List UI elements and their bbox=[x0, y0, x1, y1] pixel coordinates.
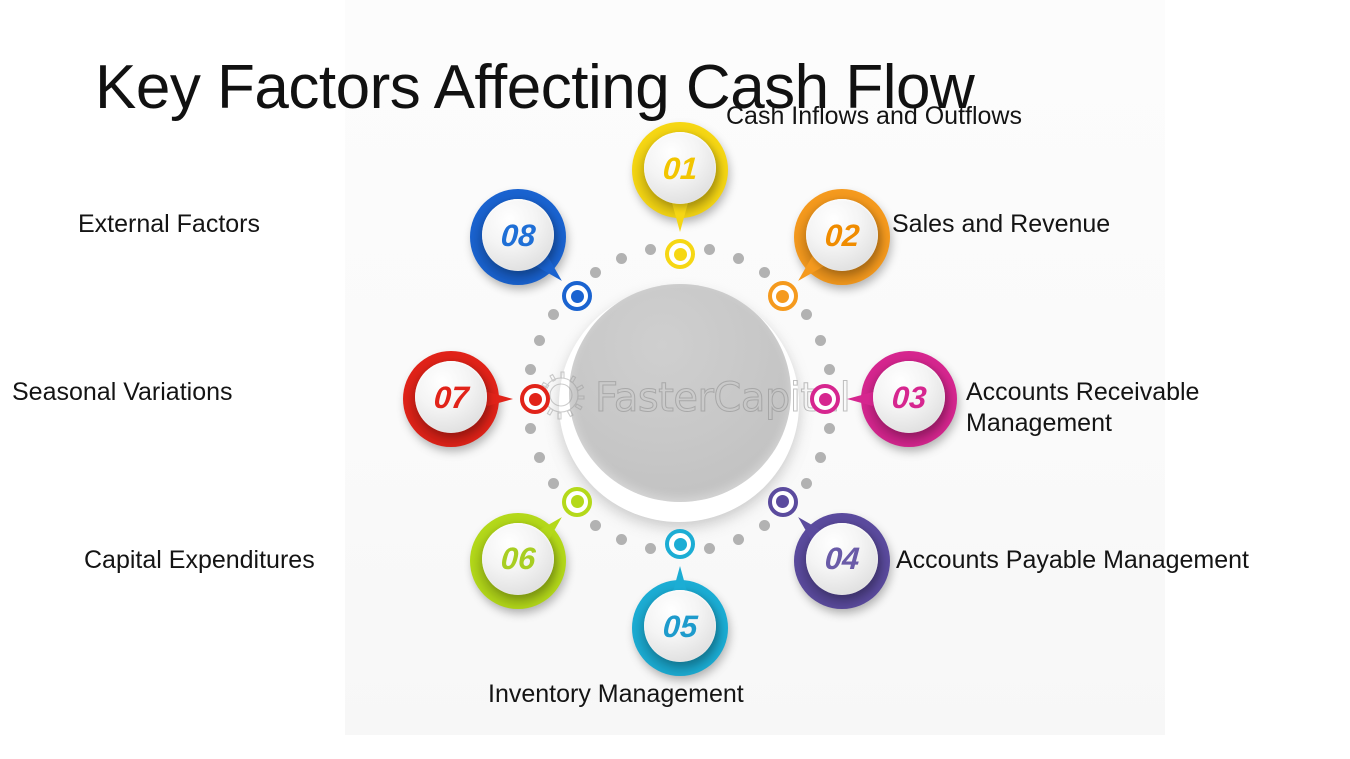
ring-dot bbox=[616, 253, 627, 264]
pin-number: 05 bbox=[662, 611, 699, 642]
step-label-03: Accounts Receivable Management bbox=[966, 377, 1296, 439]
ring-dot bbox=[616, 534, 627, 545]
ring-dot bbox=[759, 267, 770, 278]
step-label-01: Cash Inflows and Outflows bbox=[726, 101, 1146, 132]
target-dot-02[interactable] bbox=[768, 281, 798, 311]
pin-number: 06 bbox=[500, 543, 537, 574]
pin-face: 06 bbox=[482, 523, 554, 595]
target-dot-06[interactable] bbox=[562, 487, 592, 517]
step-pin-02[interactable]: 02 bbox=[794, 189, 890, 285]
ring-dot bbox=[733, 253, 744, 264]
infographic-canvas: Key Factors Affecting Cash Flow Faster bbox=[0, 0, 1350, 759]
ring-dot bbox=[645, 543, 656, 554]
hub-disc bbox=[569, 284, 791, 502]
target-dot-01[interactable] bbox=[665, 239, 695, 269]
ring-dot bbox=[815, 452, 826, 463]
step-label-07: Seasonal Variations bbox=[12, 377, 312, 408]
pin-face: 08 bbox=[482, 199, 554, 271]
target-dot-07[interactable] bbox=[520, 384, 550, 414]
step-pin-04[interactable]: 04 bbox=[794, 513, 890, 609]
pin-face: 05 bbox=[644, 590, 716, 662]
step-pin-07[interactable]: 07 bbox=[403, 351, 499, 447]
ring-dot bbox=[801, 478, 812, 489]
pin-number: 02 bbox=[824, 220, 861, 251]
pin-face: 07 bbox=[415, 361, 487, 433]
ring-dot bbox=[525, 364, 536, 375]
pin-number: 04 bbox=[824, 543, 861, 574]
pin-face: 02 bbox=[806, 199, 878, 271]
ring-dot bbox=[534, 335, 545, 346]
ring-dot bbox=[759, 520, 770, 531]
ring-dot bbox=[733, 534, 744, 545]
ring-dot bbox=[645, 244, 656, 255]
ring-dot bbox=[824, 423, 835, 434]
target-dot-core bbox=[674, 248, 687, 261]
ring-dot bbox=[525, 423, 536, 434]
target-dot-05[interactable] bbox=[665, 529, 695, 559]
ring-dot bbox=[815, 335, 826, 346]
step-label-02: Sales and Revenue bbox=[892, 209, 1232, 240]
step-label-08: External Factors bbox=[78, 209, 378, 240]
step-pin-05[interactable]: 05 bbox=[632, 580, 728, 676]
target-dot-03[interactable] bbox=[810, 384, 840, 414]
target-dot-core bbox=[776, 495, 789, 508]
ring-dot bbox=[548, 478, 559, 489]
step-label-05: Inventory Management bbox=[488, 679, 788, 710]
pin-number: 03 bbox=[891, 382, 928, 413]
pin-number: 01 bbox=[662, 153, 699, 184]
target-dot-04[interactable] bbox=[768, 487, 798, 517]
step-label-04: Accounts Payable Management bbox=[896, 545, 1296, 576]
step-pin-03[interactable]: 03 bbox=[861, 351, 957, 447]
ring-dot bbox=[590, 520, 601, 531]
ring-dot bbox=[590, 267, 601, 278]
target-dot-core bbox=[819, 393, 832, 406]
target-dot-core bbox=[571, 495, 584, 508]
step-pin-01[interactable]: 01 bbox=[632, 122, 728, 218]
pin-face: 03 bbox=[873, 361, 945, 433]
target-dot-core bbox=[674, 538, 687, 551]
ring-dot bbox=[704, 244, 715, 255]
step-label-06: Capital Expenditures bbox=[84, 545, 384, 576]
center-hub bbox=[555, 278, 805, 528]
target-dot-core bbox=[571, 290, 584, 303]
target-dot-core bbox=[776, 290, 789, 303]
step-pin-08[interactable]: 08 bbox=[470, 189, 566, 285]
ring-dot bbox=[534, 452, 545, 463]
ring-dot bbox=[801, 309, 812, 320]
pin-face: 04 bbox=[806, 523, 878, 595]
step-pin-06[interactable]: 06 bbox=[470, 513, 566, 609]
pin-number: 08 bbox=[500, 220, 537, 251]
pin-number: 07 bbox=[433, 382, 470, 413]
target-dot-core bbox=[529, 393, 542, 406]
ring-dot bbox=[824, 364, 835, 375]
pin-face: 01 bbox=[644, 132, 716, 204]
ring-dot bbox=[704, 543, 715, 554]
